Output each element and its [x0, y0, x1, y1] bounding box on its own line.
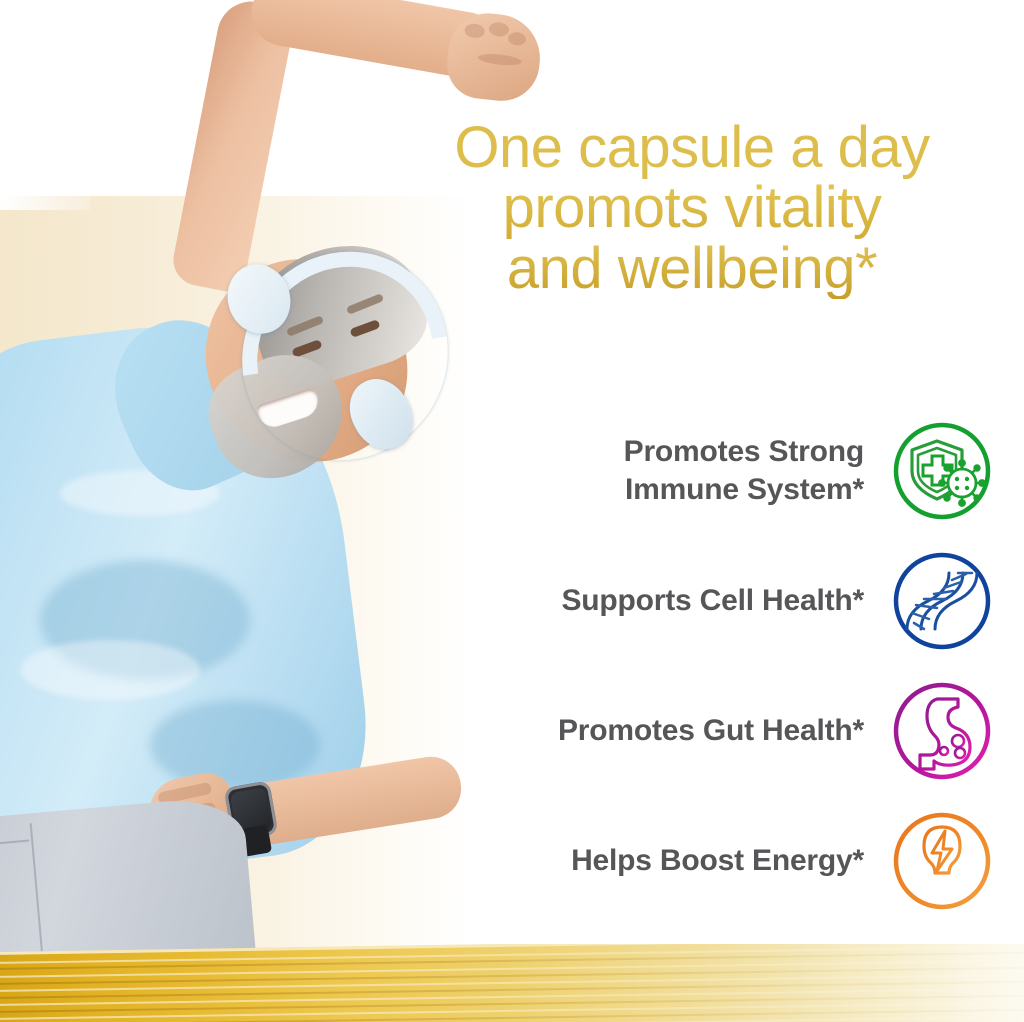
benefit-label-immune: Promotes Strong Immune System*	[430, 433, 890, 510]
benefit-row-energy: Helps Boost Energy*	[430, 796, 994, 926]
product-benefits-banner: One capsule a day promots vitality and w…	[0, 0, 1024, 1022]
benefits-list: Promotes Strong Immune System*	[430, 406, 994, 926]
shirt-fold	[20, 640, 200, 700]
benefit-label-gut-health: Promotes Gut Health*	[430, 712, 890, 750]
shirt-shadow	[150, 700, 320, 790]
benefit-row-cell-health: Supports Cell Health*	[430, 536, 994, 666]
dna-helix-icon	[890, 549, 994, 653]
benefit-label-cell-health: Supports Cell Health*	[430, 582, 890, 620]
stomach-gut-icon	[890, 679, 994, 783]
gold-band-surface	[0, 944, 1024, 1022]
benefit-row-immune: Promotes Strong Immune System*	[430, 406, 994, 536]
page-title: One capsule a day promots vitality and w…	[392, 118, 992, 299]
bottom-gold-band	[0, 944, 1024, 1022]
benefit-row-gut-health: Promotes Gut Health*	[430, 666, 994, 796]
headline-line-3: and wellbeing*	[392, 239, 992, 299]
lightbulb-bolt-icon	[890, 809, 994, 913]
benefit-label-line-2: Immune System*	[625, 473, 864, 506]
headline-line-2: promots vitality	[392, 178, 992, 238]
benefit-label-energy: Helps Boost Energy*	[430, 842, 890, 880]
shield-cross-virus-icon	[890, 419, 994, 523]
benefit-label-line-1: Promotes Strong	[624, 435, 864, 468]
headline-line-1: One capsule a day	[392, 118, 992, 178]
